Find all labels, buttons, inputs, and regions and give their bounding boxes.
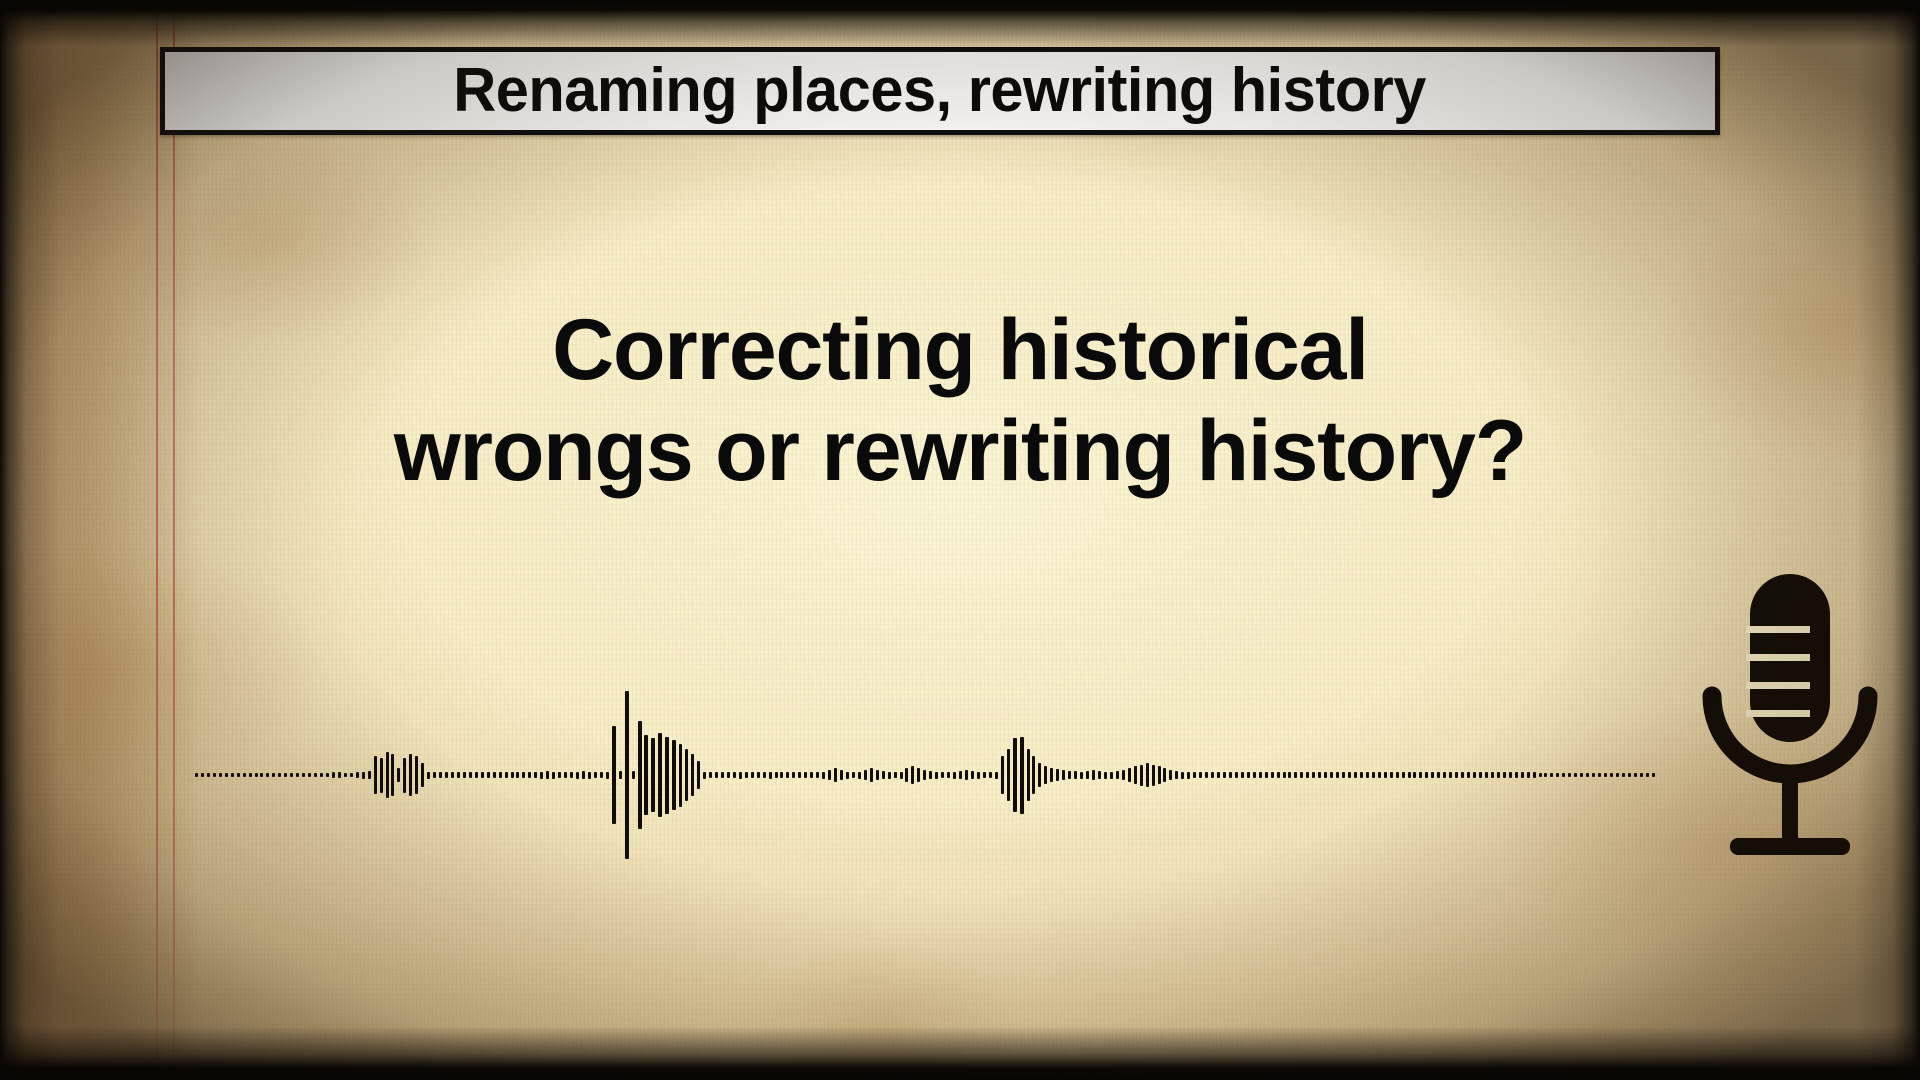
page-title: Correcting historical wrongs or rewritin… bbox=[0, 300, 1920, 503]
slide-canvas: Renaming places, rewriting history Corre… bbox=[0, 0, 1920, 1080]
page-title-line-1: Correcting historical bbox=[0, 300, 1920, 401]
microphone-icon bbox=[1702, 572, 1878, 862]
header-banner: Renaming places, rewriting history bbox=[160, 47, 1720, 135]
aged-paper-background bbox=[0, 0, 1920, 1080]
page-title-line-2: wrongs or rewriting history? bbox=[0, 401, 1920, 502]
margin-rule-line-2 bbox=[173, 0, 175, 1080]
header-title: Renaming places, rewriting history bbox=[454, 60, 1427, 122]
margin-rule-line-1 bbox=[156, 0, 158, 1080]
paper-left-aged-band bbox=[0, 0, 200, 1080]
